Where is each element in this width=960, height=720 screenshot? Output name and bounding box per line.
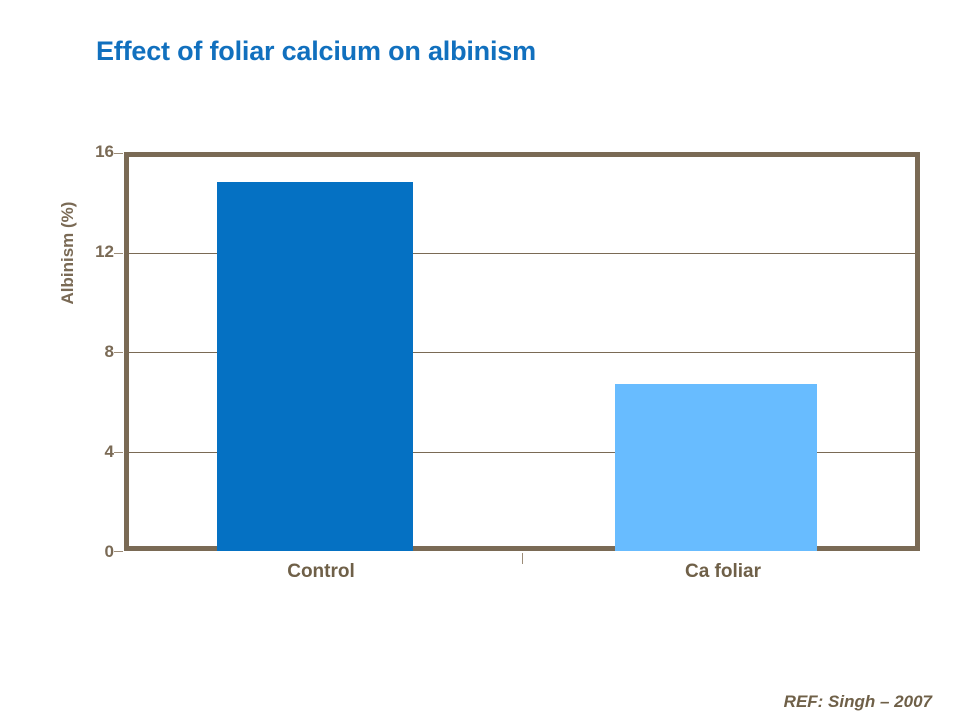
x-axis-category-tick — [522, 553, 523, 564]
y-tick-label-16: 16 — [64, 143, 114, 160]
y-tick-label-4: 4 — [64, 443, 114, 460]
y-tick-mark-16 — [114, 153, 123, 154]
gridline-4 — [129, 452, 915, 453]
y-tick-label-12: 12 — [64, 243, 114, 260]
y-tick-mark-4 — [114, 452, 123, 453]
reference-note: REF: Singh – 2007 — [784, 692, 932, 712]
y-tick-mark-0 — [114, 551, 123, 552]
gridline-8 — [129, 352, 915, 353]
x-tick-label-ca-foliar: Ca foliar — [622, 561, 824, 583]
chart-title: Effect of foliar calcium on albinism — [96, 36, 536, 67]
gridline-12 — [129, 253, 915, 254]
y-tick-mark-8 — [114, 352, 123, 353]
y-tick-mark-12 — [114, 253, 123, 254]
y-axis-tick-labels: 16 12 8 4 0 — [58, 152, 114, 551]
plot-area — [124, 152, 920, 551]
y-tick-label-0: 0 — [64, 543, 114, 560]
x-tick-label-control: Control — [223, 561, 419, 583]
y-tick-label-8: 8 — [64, 343, 114, 360]
